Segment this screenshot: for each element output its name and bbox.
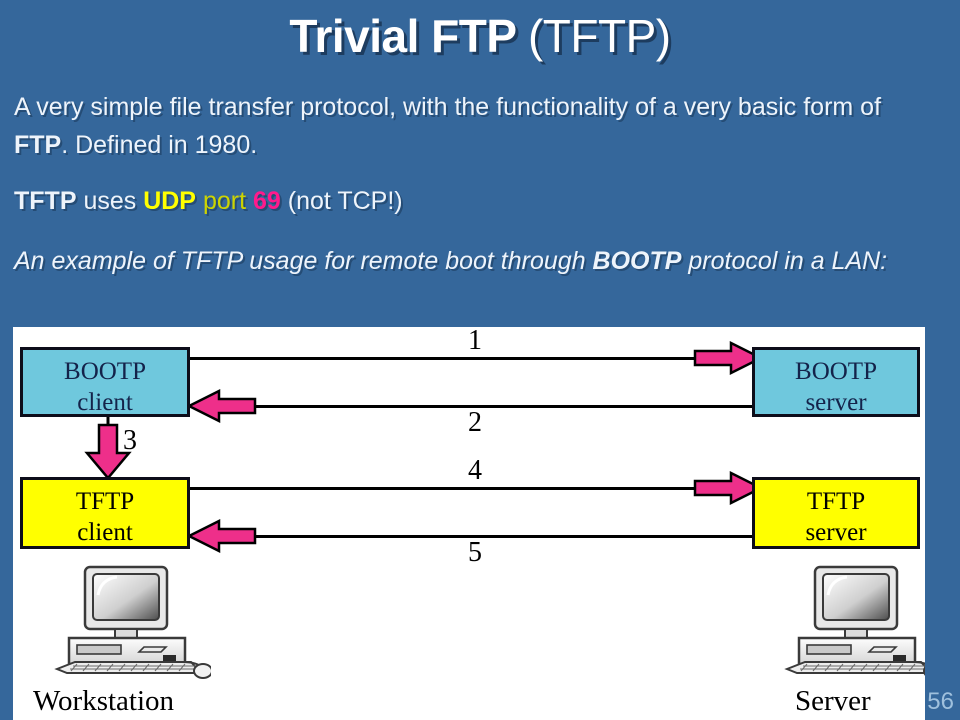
node-tftp-server[interactable]: TFTP server [752, 477, 920, 549]
paragraph-intro-ftp: FTP [14, 131, 61, 159]
paragraph-udp-tftp: TFTP [14, 187, 77, 215]
title-bold-part: Trivial FTP [289, 10, 528, 62]
server-label: Server [795, 685, 871, 718]
node-bootp-client[interactable]: BOOTP client [20, 347, 190, 417]
workstation-computer-icon [51, 565, 211, 680]
paragraph-example: An example of TFTP usage for remote boot… [14, 242, 934, 280]
connector-line-1 [188, 357, 758, 360]
node-tftp-server-line2: server [755, 517, 917, 548]
slide: Trivial FTP (TFTP) A very simple file tr… [0, 0, 960, 720]
paragraph-udp-uses: uses [77, 187, 144, 215]
paragraph-example-bootp: BOOTP [593, 247, 682, 275]
node-tftp-server-line1: TFTP [755, 486, 917, 517]
node-tftp-client-line2: client [23, 517, 187, 548]
step-number-5: 5 [468, 539, 482, 567]
paragraph-intro-text-a: A very simple file transfer protocol, wi… [14, 93, 881, 121]
node-bootp-client-line2: client [23, 387, 187, 418]
paragraph-udp-keyword: UDP [143, 187, 196, 215]
workstation-label: Workstation [33, 685, 174, 718]
connector-line-4 [188, 487, 758, 490]
paragraph-intro: A very simple file transfer protocol, wi… [14, 88, 934, 164]
node-bootp-server-line1: BOOTP [755, 356, 917, 387]
page-title: Trivial FTP (TFTP) [0, 6, 960, 66]
paragraph-example-text-a: An example of TFTP usage for remote boot… [14, 247, 593, 275]
server-computer-icon [781, 565, 925, 680]
paragraph-udp-tail: (not TCP!) [281, 187, 403, 215]
node-tftp-client[interactable]: TFTP client [20, 477, 190, 549]
connector-line-5 [243, 535, 758, 538]
title-light-part: (TFTP) [528, 10, 671, 62]
paragraph-udp-space1 [196, 187, 203, 215]
step-number-1: 1 [468, 327, 482, 355]
paragraph-intro-text-b: . Defined in 1980. [61, 131, 257, 159]
step-number-4: 4 [468, 457, 482, 485]
paragraph-udp-port: TFTP uses UDP port 69 (not TCP!) [14, 182, 934, 220]
node-tftp-client-line1: TFTP [23, 486, 187, 517]
step-number-2: 2 [468, 409, 482, 437]
paragraph-example-text-b: protocol in a LAN: [681, 247, 887, 275]
node-bootp-client-line1: BOOTP [23, 356, 187, 387]
arrow-left-bootp-icon [187, 389, 257, 423]
paragraph-udp-portnumber: 69 [253, 187, 281, 215]
connector-line-2 [243, 405, 758, 408]
arrow-left-tftp-icon [187, 519, 257, 553]
node-bootp-server-line2: server [755, 387, 917, 418]
page-number: 56 [927, 688, 954, 716]
node-bootp-server[interactable]: BOOTP server [752, 347, 920, 417]
paragraph-udp-portword: port [203, 187, 246, 215]
step-number-3: 3 [123, 427, 137, 455]
paragraph-udp-space2 [246, 187, 253, 215]
diagram-panel: BOOTP client BOOTP server TFTP client TF… [13, 327, 925, 720]
